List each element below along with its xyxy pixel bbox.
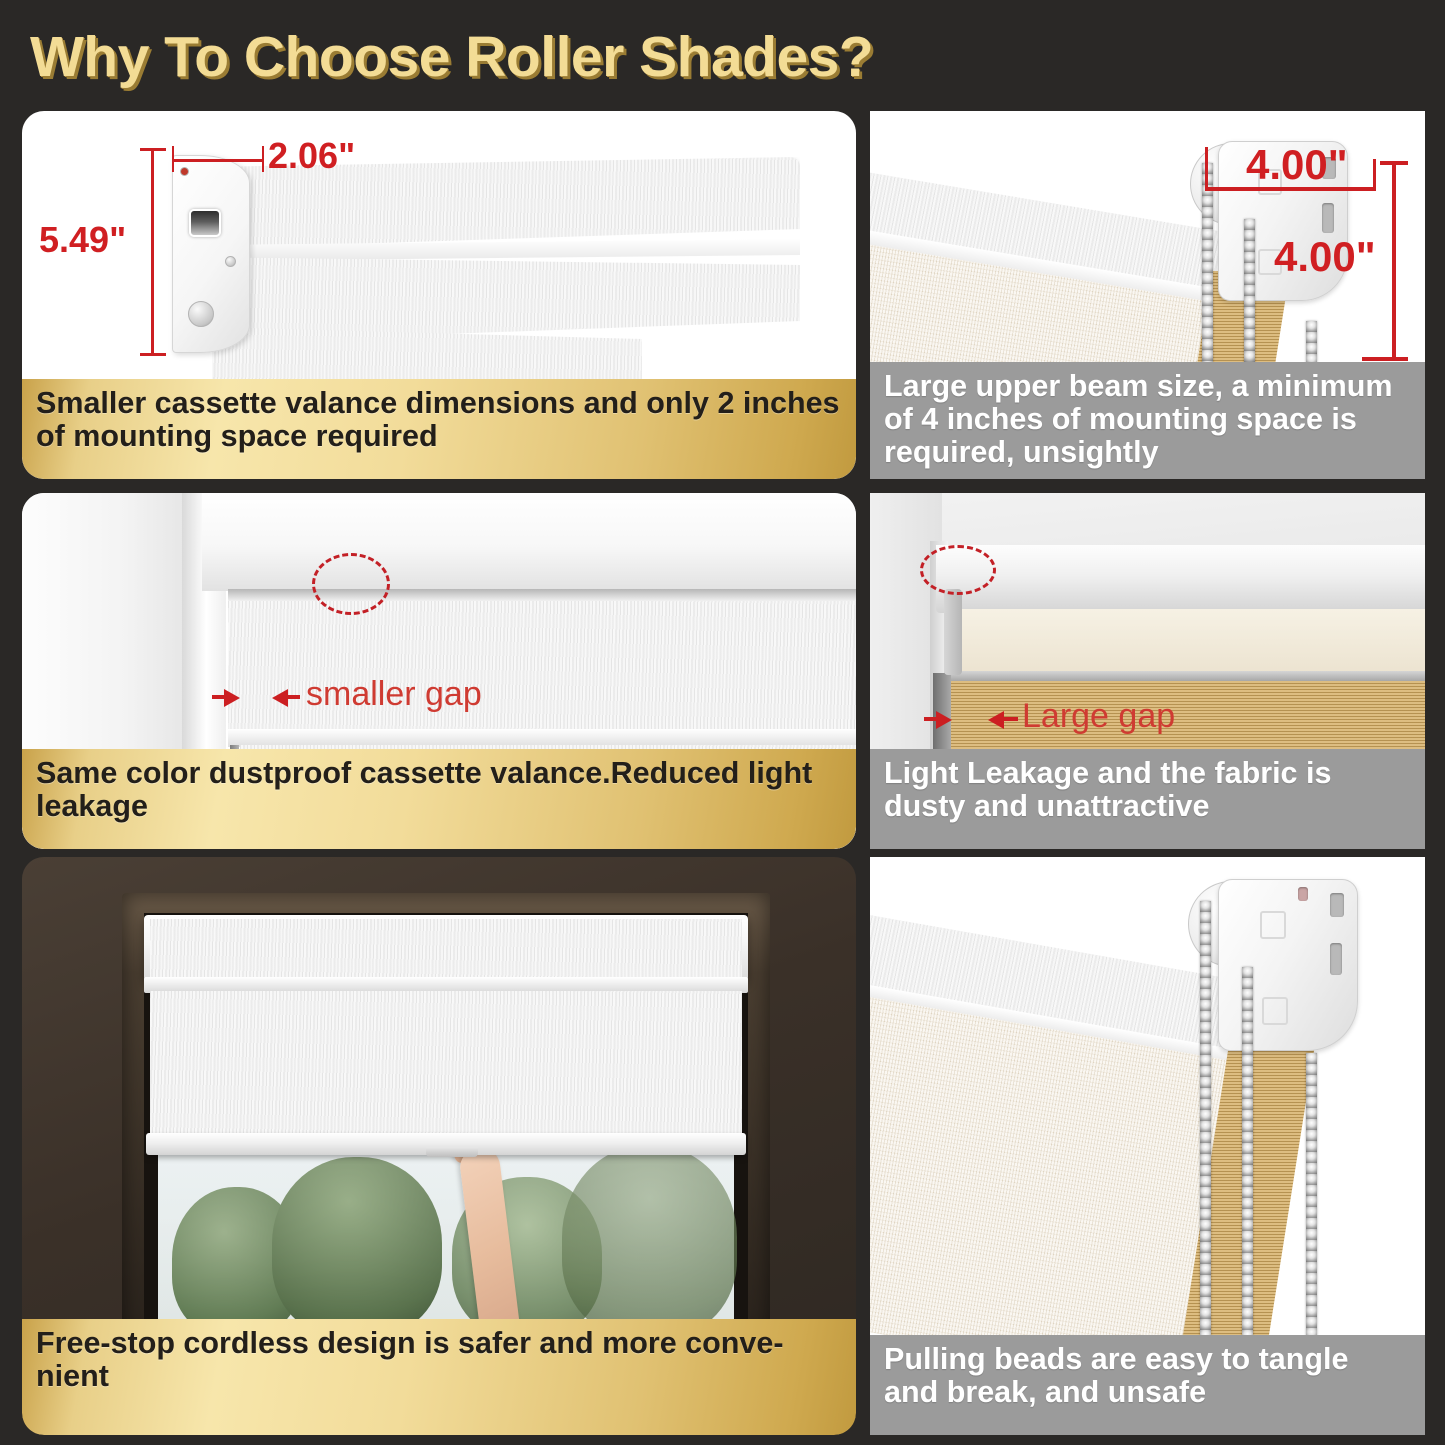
panel-caption-bad: Large upper beam size, a minimum of 4 in…	[870, 362, 1425, 479]
gap-label: smaller gap	[306, 675, 482, 714]
panel-cassette-dimensions[interactable]: 2.06" 5.49" Smaller cassette valance dim…	[22, 111, 856, 479]
panel-caption-good: Smaller cassette valance dimensions and …	[22, 379, 856, 479]
panel-large-upper-beam[interactable]: 4.00" 4.00" Large upper beam size, a min…	[870, 111, 1425, 479]
panel-caption-good: Same color dustproof cassette valance.Re…	[22, 749, 856, 849]
bead-chain-front	[1200, 901, 1211, 1336]
dimension-height-label: 5.49"	[39, 219, 126, 261]
bead-chain-back	[1306, 1053, 1317, 1337]
bead-chain-mid	[1242, 967, 1253, 1337]
head-fabric	[150, 919, 742, 979]
highlight-circle-icon	[312, 553, 390, 615]
dimension-width-label: 2.06"	[268, 135, 355, 177]
dimension-width-label: 4.00"	[1246, 141, 1348, 189]
cord-hole	[189, 209, 221, 237]
highlight-circle-icon	[920, 545, 996, 595]
pull-tab	[426, 1147, 478, 1157]
panel-light-leakage[interactable]: Large gap Light Leakage and the fabric i…	[870, 493, 1425, 849]
shade-fabric-light	[944, 609, 1425, 675]
window-head-casing	[202, 493, 856, 591]
panel-pulling-beads[interactable]: Pulling beads are easy to tangle and bre…	[870, 857, 1425, 1435]
roller-shade-fabric	[150, 991, 742, 1141]
panel-caption-bad: Pulling beads are easy to tangle and bre…	[870, 1335, 1425, 1435]
panel-dustproof-valance[interactable]: smaller gap Same color dustproof cassett…	[22, 493, 856, 849]
panel-cordless-design[interactable]: Free-stop cordless design is safer and m…	[22, 857, 856, 1435]
roller-tube	[936, 545, 1425, 613]
gap-label: Large gap	[1022, 697, 1175, 736]
bracket-arrow-icon	[1260, 911, 1286, 939]
bracket-arrow-icon	[1262, 997, 1288, 1025]
dim-line-height	[151, 148, 154, 356]
valance-end-cap	[172, 155, 250, 353]
dim-line-width	[172, 159, 264, 162]
panel-caption-good: Free-stop cordless design is safer and m…	[22, 1319, 856, 1435]
comparison-grid: 2.06" 5.49" Smaller cassette valance dim…	[0, 105, 1445, 1445]
dimension-height-label: 4.00"	[1274, 233, 1376, 281]
panel-caption-bad: Light Leakage and the fabric is dusty an…	[870, 749, 1425, 849]
page-title: Why To Choose Roller Shades?	[30, 24, 873, 90]
